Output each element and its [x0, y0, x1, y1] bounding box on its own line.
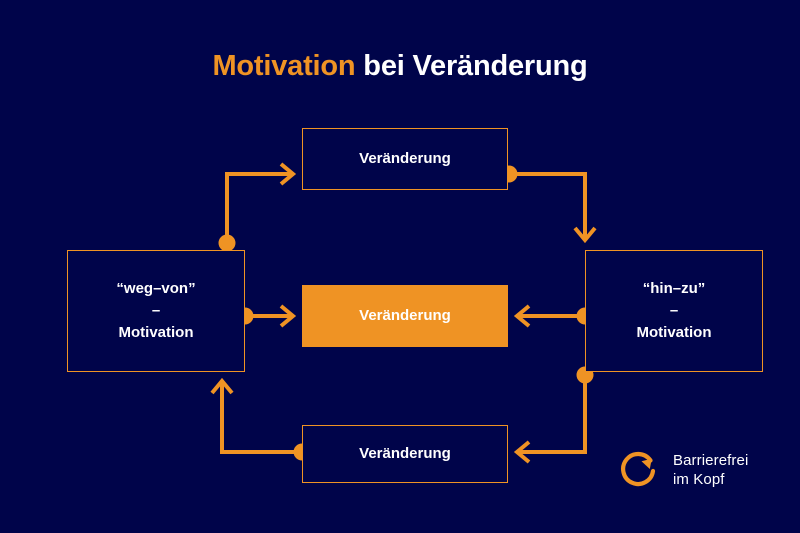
junction-dot-left-top — [219, 235, 236, 252]
node-veraenderung-bottom[interactable]: Veränderung — [302, 425, 508, 483]
edge-top-to-right — [509, 174, 585, 238]
edge-bottom-to-left — [222, 383, 302, 452]
node-weg-von-motivation[interactable]: “weg–von” – Motivation — [67, 250, 245, 372]
node-bottom-label: Veränderung — [359, 443, 451, 465]
node-left-label-line1: “weg–von” — [116, 278, 195, 300]
brand-logo-text: Barrierefrei im Kopf — [673, 452, 748, 490]
node-left-label-line3: Motivation — [119, 322, 194, 344]
brand-logo-line1: Barrierefrei — [673, 452, 748, 471]
node-right-label-line1: “hin–zu” — [643, 278, 706, 300]
node-veraenderung-top[interactable]: Veränderung — [302, 128, 508, 190]
node-right-label-line3: Motivation — [637, 322, 712, 344]
node-veraenderung-center[interactable]: Veränderung — [302, 285, 508, 347]
node-hin-zu-motivation[interactable]: “hin–zu” – Motivation — [585, 250, 763, 372]
diagram-canvas: Motivation bei Veränderung — [0, 0, 800, 533]
node-right-label-line2: – — [670, 300, 678, 322]
edge-right-to-bottom — [518, 375, 585, 452]
node-center-label: Veränderung — [359, 305, 451, 327]
circular-arrow-icon — [618, 448, 664, 494]
brand-logo-line2: im Kopf — [673, 471, 748, 490]
node-left-label-line2: – — [152, 300, 160, 322]
brand-logo[interactable]: Barrierefrei im Kopf — [618, 448, 748, 494]
node-top-label: Veränderung — [359, 148, 451, 170]
